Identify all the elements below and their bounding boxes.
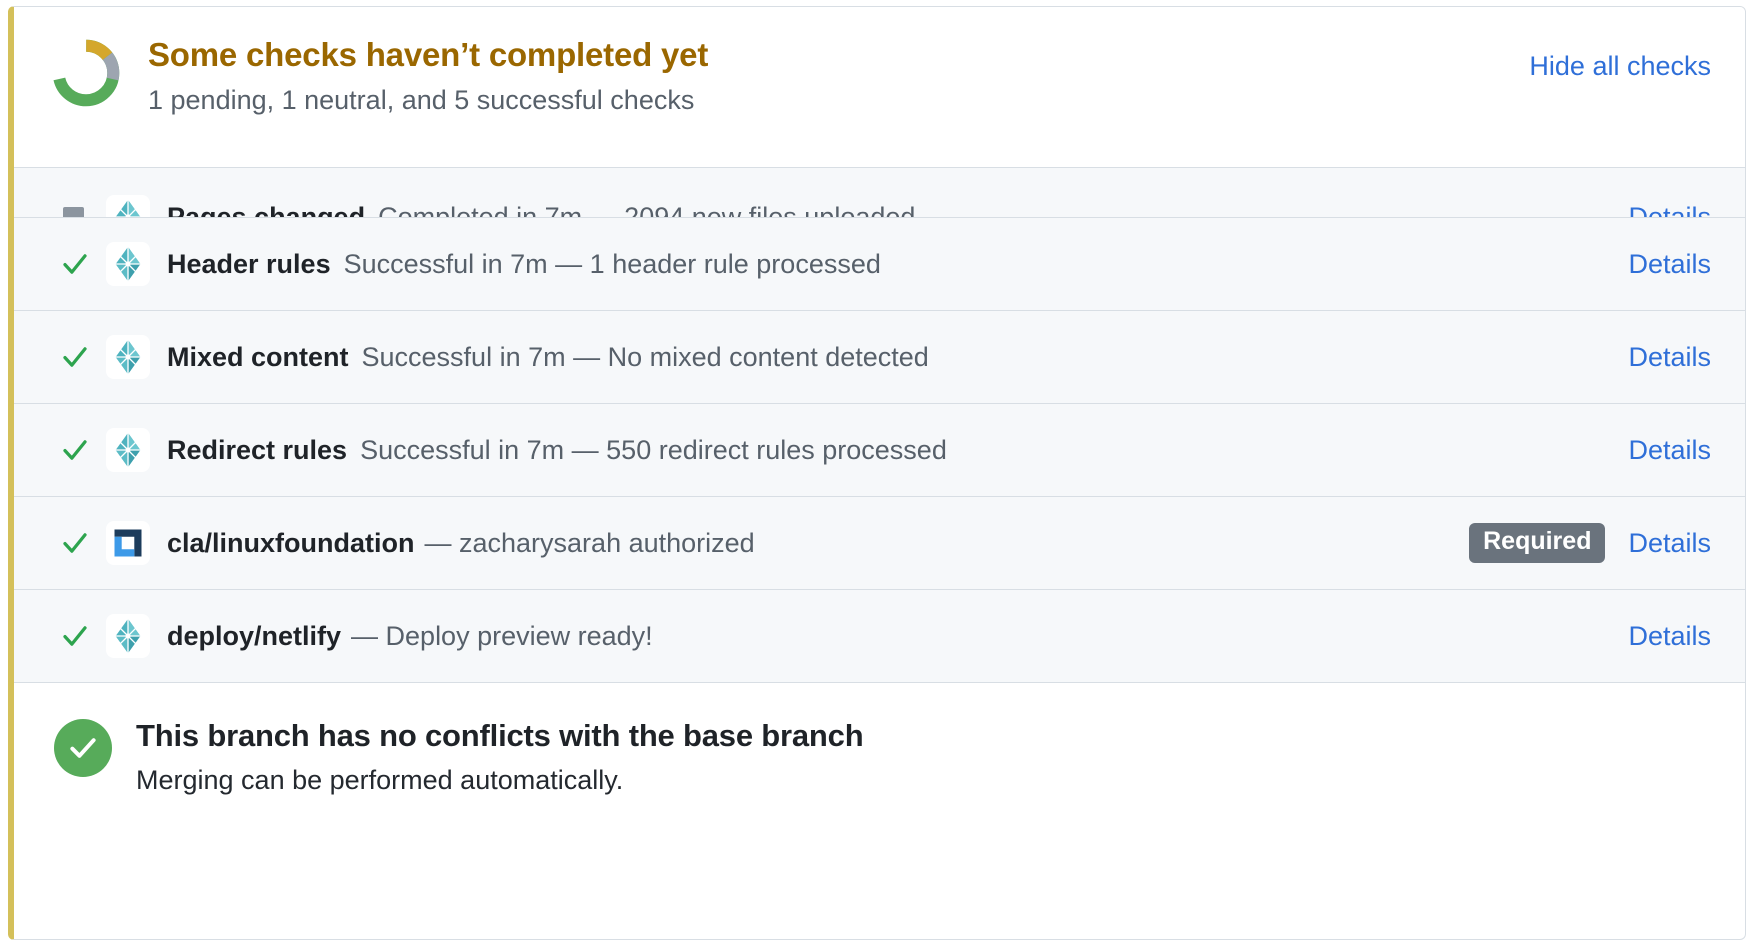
merge-status-box: Some checks haven’t completed yet 1 pend… [8,6,1746,940]
check-description: — zacharysarah authorized [425,528,755,559]
table-row[interactable]: Redirect rules Successful in 7m — 550 re… [14,404,1745,497]
check-name: Redirect rules [167,435,347,466]
neutral-square-icon [60,207,106,219]
table-row[interactable]: cla/linuxfoundation — zacharysarah autho… [14,497,1745,590]
details-link[interactable]: Details [1628,621,1711,652]
checks-summary-text: Some checks haven’t completed yet 1 pend… [148,33,708,117]
details-link[interactable]: Details [1628,202,1711,219]
details-link[interactable]: Details [1628,528,1711,559]
check-description: Successful in 7m — 550 redirect rules pr… [360,435,947,466]
checks-status-donut-icon [50,37,122,109]
table-row[interactable]: Mixed content Successful in 7m — No mixe… [14,311,1745,404]
branch-conflict-status: This branch has no conflicts with the ba… [14,683,1745,828]
check-name: Pages changed [167,202,365,219]
check-name: deploy/netlify [167,621,341,652]
checks-list: Pages changed Completed in 7m — 2094 new… [14,167,1745,683]
page-title: Some checks haven’t completed yet [148,35,708,75]
netlify-logo-icon [106,335,150,379]
checks-summary-subtitle: 1 pending, 1 neutral, and 5 successful c… [148,84,708,118]
check-mark-icon [60,528,106,558]
table-row[interactable]: Pages changed Completed in 7m — 2094 new… [14,168,1745,218]
checks-summary-header: Some checks haven’t completed yet 1 pend… [14,7,1745,167]
merge-status-subtitle: Merging can be performed automatically. [136,764,863,798]
check-description: Successful in 7m — No mixed content dete… [362,342,929,373]
details-link[interactable]: Details [1628,249,1711,280]
netlify-logo-icon [106,428,150,472]
details-link[interactable]: Details [1628,342,1711,373]
check-name: Header rules [167,249,331,280]
netlify-logo-icon [106,242,150,286]
netlify-logo-icon [106,614,150,658]
table-row[interactable]: Header rules Successful in 7m — 1 header… [14,218,1745,311]
check-description: — Deploy preview ready! [351,621,653,652]
check-mark-icon [60,342,106,372]
table-row[interactable]: deploy/netlify — Deploy preview ready! D… [14,590,1745,683]
check-mark-icon [60,435,106,465]
check-mark-icon [60,621,106,651]
linux-foundation-logo-icon [106,521,150,565]
details-link[interactable]: Details [1628,435,1711,466]
check-name: cla/linuxfoundation [167,528,415,559]
status-badge: Required [1469,523,1605,563]
check-circle-icon [54,719,112,777]
merge-status-title: This branch has no conflicts with the ba… [136,717,863,754]
hide-all-checks-link[interactable]: Hide all checks [1529,51,1711,82]
netlify-logo-icon [106,195,150,218]
check-name: Mixed content [167,342,349,373]
check-description: Completed in 7m — 2094 new files uploade… [378,202,915,219]
check-mark-icon [60,249,106,279]
check-description: Successful in 7m — 1 header rule process… [344,249,881,280]
